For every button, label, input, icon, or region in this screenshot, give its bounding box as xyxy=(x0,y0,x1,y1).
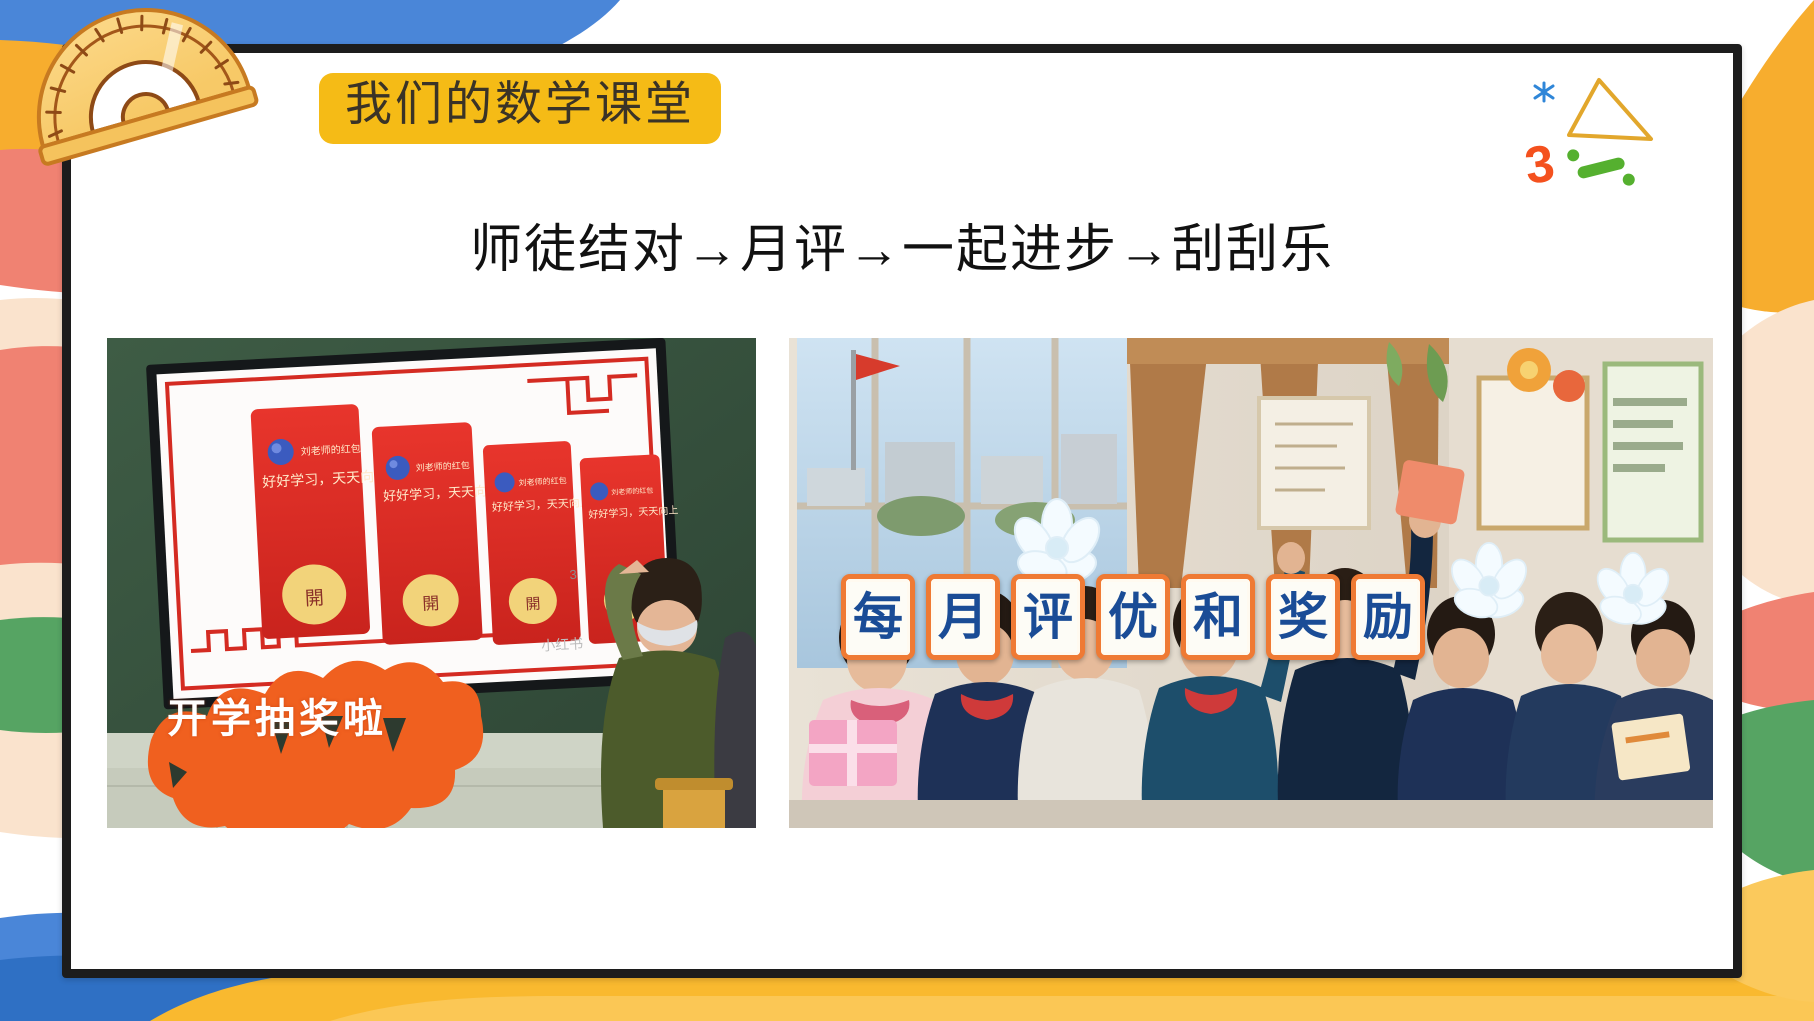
students-awards-photo: 每 月 评 优 xyxy=(789,338,1713,828)
photo-row: 刘老师的红包 好好学习，天天向上 開 刘老师的红包 好好学习，天天向上 開 xyxy=(107,338,1713,828)
sign-card: 每 xyxy=(841,574,915,660)
classroom-photo-art: 刘老师的红包 好好学习，天天向上 開 刘老师的红包 好好学习，天天向上 開 xyxy=(107,338,756,828)
svg-text:開: 開 xyxy=(422,594,440,614)
sign-card: 奖 xyxy=(1266,574,1340,660)
classroom-lottery-photo: 刘老师的红包 好好学习，天天向上 開 刘老师的红包 好好学习，天天向上 開 xyxy=(107,338,756,828)
sign-character: 奖 xyxy=(1278,592,1328,642)
slide-title-badge: 我们的数学课堂 xyxy=(319,73,721,144)
sign-character: 励 xyxy=(1363,592,1413,642)
screen-watermark: 小红书 xyxy=(541,635,584,653)
award-sign-row: 每 月 评 优 xyxy=(841,574,1425,660)
sign-character: 优 xyxy=(1108,592,1158,642)
svg-text:開: 開 xyxy=(525,597,541,614)
sign-card: 和 xyxy=(1181,574,1255,660)
sign-inner: 评 xyxy=(1016,579,1080,655)
sign-inner: 奖 xyxy=(1271,579,1335,655)
sign-character: 和 xyxy=(1193,592,1243,642)
sign-inner: 月 xyxy=(931,579,995,655)
star-icon xyxy=(1535,83,1553,101)
sign-character: 每 xyxy=(853,592,903,642)
heading-text: 师徒结对→月评→一起进步→刮刮乐 xyxy=(470,222,1334,279)
sign-card: 评 xyxy=(1011,574,1085,660)
math-doodles-svg: 3 xyxy=(1521,63,1711,193)
sign-inner: 每 xyxy=(846,579,910,655)
sign-inner: 励 xyxy=(1356,579,1420,655)
page-heading: 师徒结对→月评→一起进步→刮刮乐 xyxy=(71,207,1733,282)
sign-inner: 优 xyxy=(1101,579,1165,655)
sign-character: 月 xyxy=(938,592,988,642)
digit-three-icon: 3 xyxy=(1521,134,1558,193)
sign-card: 励 xyxy=(1351,574,1425,660)
triangle-icon xyxy=(1569,80,1651,139)
sign-card: 优 xyxy=(1096,574,1170,660)
slide-frame: 我们的数学课堂 3 师徒结对→月评→一起进步→刮刮乐 xyxy=(62,44,1742,978)
slide-title-text: 我们的数学课堂 xyxy=(345,79,695,131)
sign-card: 月 xyxy=(926,574,1000,660)
screen-number: 3 xyxy=(569,567,577,582)
sign-character: 评 xyxy=(1023,592,1073,642)
sign-inner: 和 xyxy=(1186,579,1250,655)
math-doodle-group: 3 xyxy=(1521,63,1711,193)
svg-text:開: 開 xyxy=(304,588,324,610)
divide-icon xyxy=(1566,136,1636,193)
